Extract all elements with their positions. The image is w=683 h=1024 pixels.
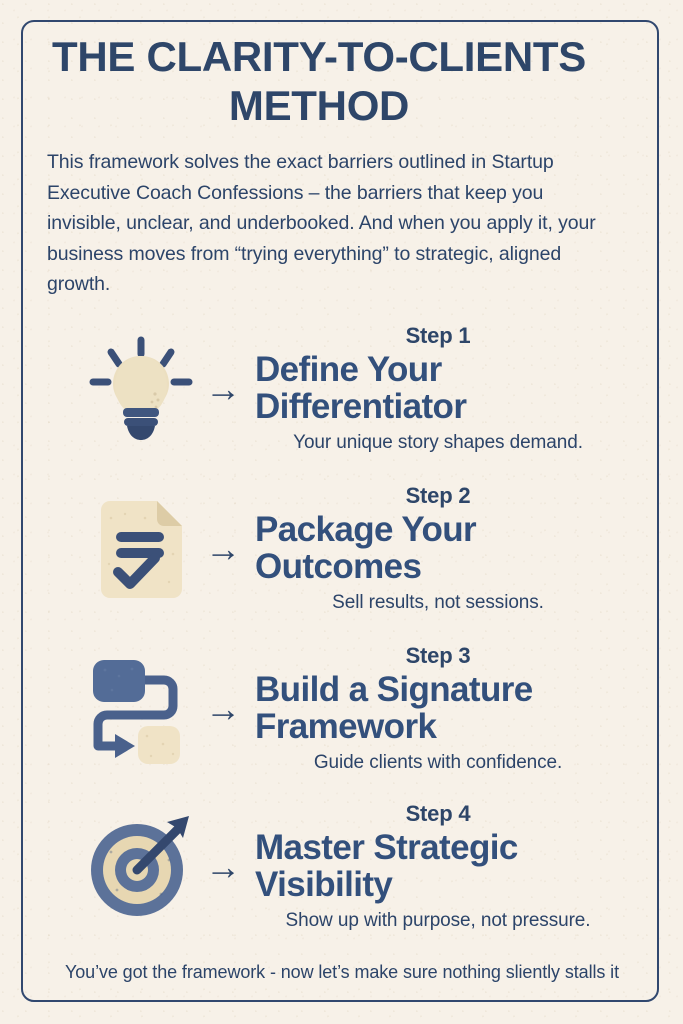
- flowchart-icon: [85, 654, 197, 766]
- intro-paragraph: This framework solves the exact barriers…: [47, 147, 609, 300]
- footer-text: You’ve got the framework - now let’s mak…: [32, 959, 652, 985]
- step-title: Master Strategic Visibility: [255, 829, 621, 903]
- step-body: Step 2 Package Your Outcomes Sell result…: [255, 482, 621, 616]
- arrow-icon: →: [199, 846, 247, 888]
- lightbulb-icon: [85, 334, 197, 446]
- step-label: Step 3: [255, 642, 621, 669]
- step-item: → Step 1 Define Your Differentiator Your…: [41, 322, 621, 472]
- target-bullseye-icon: [85, 812, 197, 924]
- step-subtitle: Guide clients with confidence.: [255, 750, 621, 776]
- step-label: Step 4: [255, 800, 621, 827]
- step-subtitle: Sell results, not sessions.: [255, 590, 621, 616]
- step-title: Define Your Differentiator: [255, 351, 621, 425]
- step-label: Step 1: [255, 322, 621, 349]
- step-body: Step 4 Master Strategic Visibility Show …: [255, 800, 621, 934]
- arrow-icon: →: [199, 368, 247, 410]
- arrow-icon: →: [199, 688, 247, 730]
- step-body: Step 3 Build a Signature Framework Guide…: [255, 642, 621, 776]
- step-subtitle: Show up with purpose, not pressure.: [255, 908, 621, 934]
- step-subtitle: Your unique story shapes demand.: [255, 430, 621, 456]
- step-title: Build a Signature Framework: [255, 671, 621, 745]
- step-body: Step 1 Define Your Differentiator Your u…: [255, 322, 621, 456]
- arrow-icon: →: [199, 528, 247, 570]
- document-checklist-icon: [85, 494, 197, 606]
- step-label: Step 2: [255, 482, 621, 509]
- page-title: THE CLARITY-TO-CLIENTS METHOD: [41, 32, 597, 130]
- infographic-poster: THE CLARITY-TO-CLIENTS METHOD This frame…: [0, 0, 683, 1024]
- step-item: → Step 3 Build a Signature Framework Gui…: [41, 642, 621, 792]
- step-item: → Step 2 Package Your Outcomes Sell resu…: [41, 482, 621, 632]
- step-item: → Step 4 Master Strategic Visibility Sho…: [41, 800, 621, 950]
- step-title: Package Your Outcomes: [255, 511, 621, 585]
